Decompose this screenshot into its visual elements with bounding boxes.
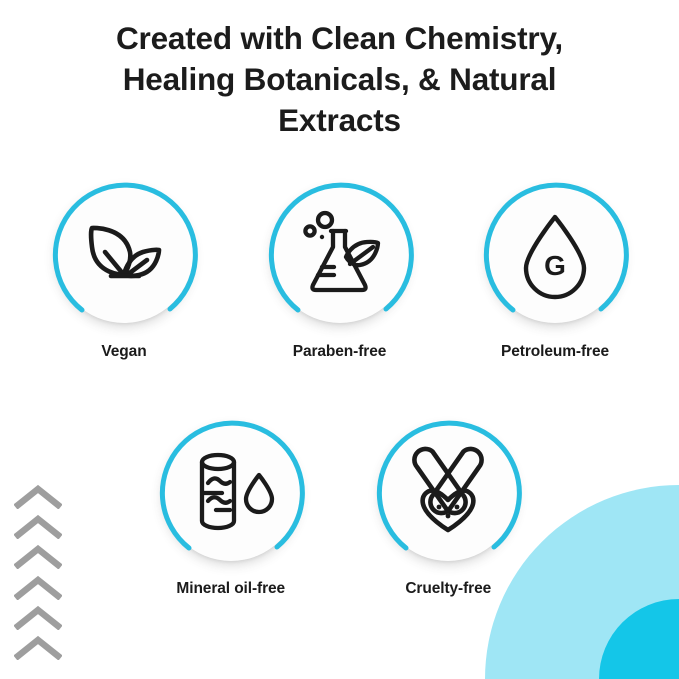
page-title-line-3: Extracts	[26, 100, 653, 141]
badge-petroleum-free[interactable]: G Petroleum-free	[475, 178, 635, 361]
chevron-up-icon	[14, 605, 62, 630]
page-title-line-2: Healing Botanicals, & Natural	[26, 59, 653, 100]
badge-label: Paraben-free	[293, 343, 387, 361]
badge-circle: G	[479, 178, 631, 330]
infographic-panel: Created with Clean Chemistry, Healing Bo…	[0, 0, 679, 679]
badge-circle	[372, 416, 524, 568]
corner-inner-arc	[599, 599, 679, 679]
chevron-up-icon	[14, 635, 62, 660]
badge-label: Cruelty-free	[405, 580, 491, 598]
bunny-face-icon	[401, 445, 495, 539]
badge-label: Petroleum-free	[501, 343, 609, 361]
flask-with-leaf-icon	[293, 207, 387, 301]
badge-label: Mineral oil-free	[176, 580, 285, 598]
two-leaves-icon	[77, 207, 171, 301]
droplet-letter: G	[544, 250, 566, 281]
badge-vegan[interactable]: Vegan	[44, 178, 204, 361]
badge-circle	[155, 416, 307, 568]
badge-circle	[264, 178, 416, 330]
test-tube-droplet-icon	[184, 445, 278, 539]
badge-row-1: Vegan	[0, 178, 679, 361]
page-title-line-1: Created with Clean Chemistry,	[26, 18, 653, 59]
badge-mineral-oil-free[interactable]: Mineral oil-free	[152, 416, 310, 598]
badge-paraben-free[interactable]: Paraben-free	[260, 178, 420, 361]
droplet-g-icon: G	[508, 207, 602, 301]
badge-row-2: Mineral oil-free	[0, 416, 679, 598]
badge-label: Vegan	[101, 343, 146, 361]
badge-cruelty-free[interactable]: Cruelty-free	[370, 416, 528, 598]
page-title: Created with Clean Chemistry, Healing Bo…	[0, 18, 679, 141]
badge-circle	[48, 178, 200, 330]
